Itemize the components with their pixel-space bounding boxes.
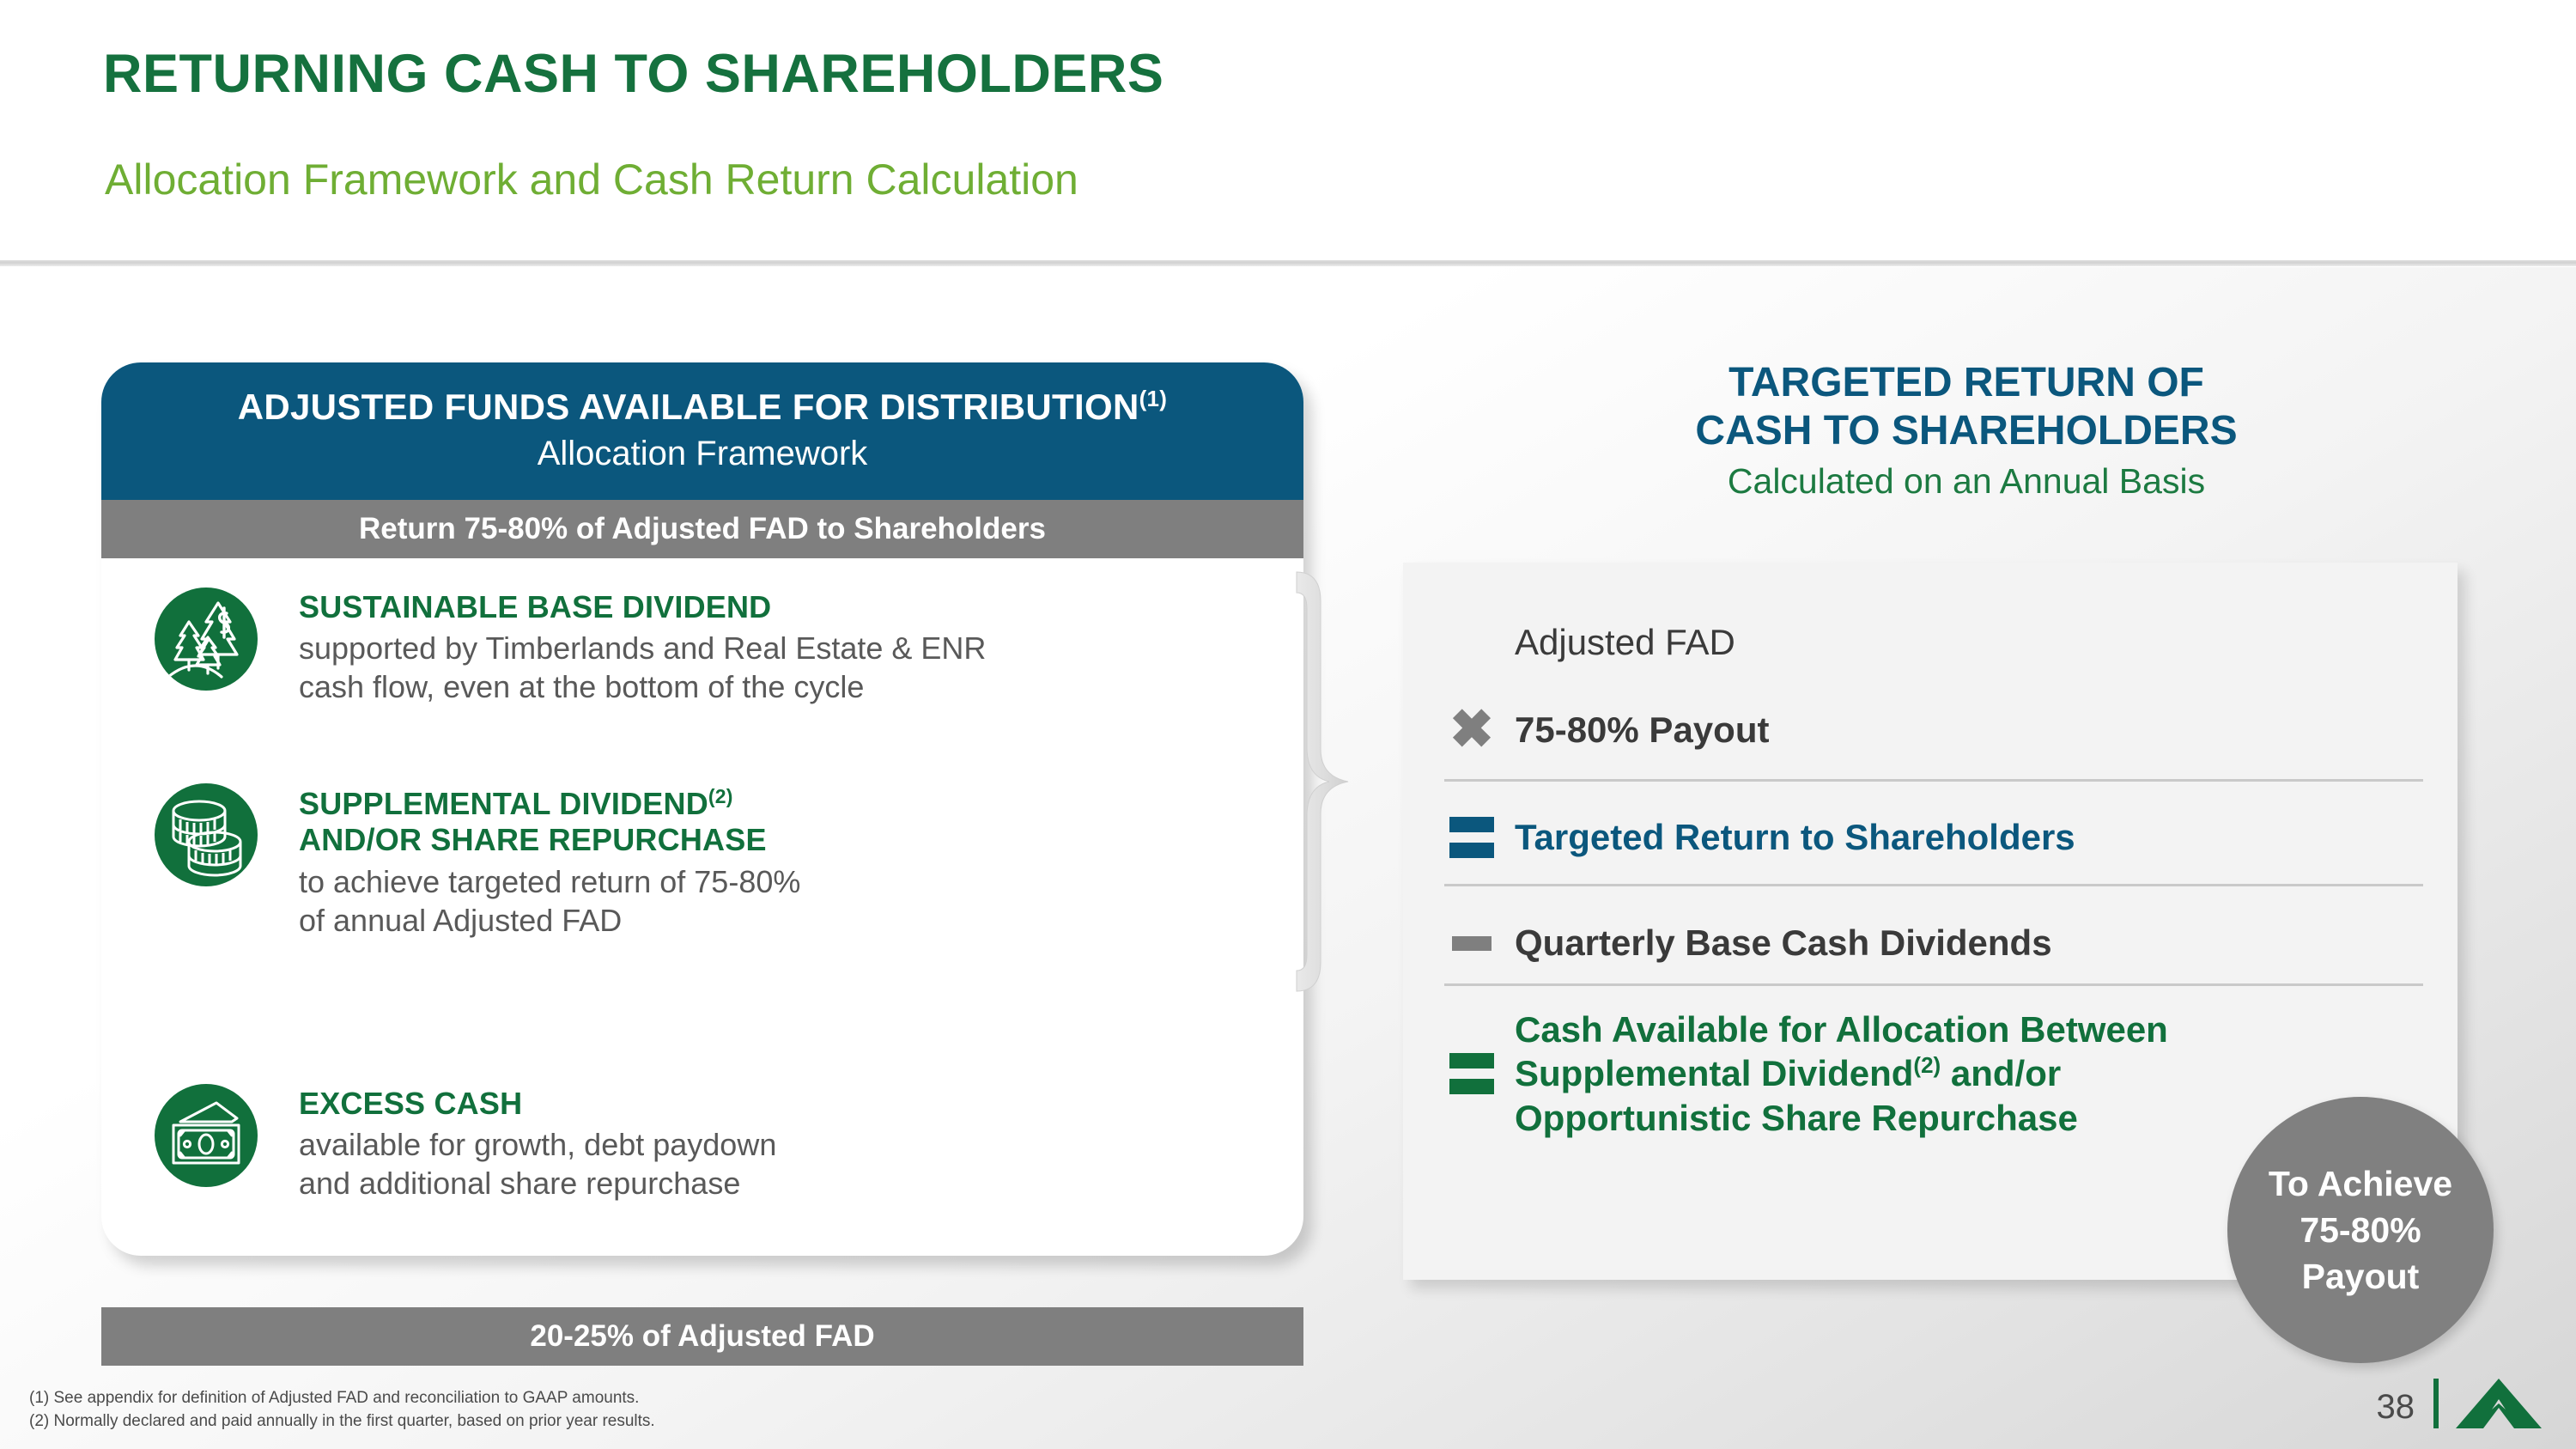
- page-number: 38: [2377, 1388, 2415, 1427]
- calc-row-5-line-3: Opportunistic Share Repurchase: [1515, 1098, 2078, 1138]
- item-2-text: SUPPLEMENTAL DIVIDEND(2) AND/OR SHARE RE…: [299, 783, 800, 940]
- allocation-panel-title-text: ADJUSTED FUNDS AVAILABLE FOR DISTRIBUTIO…: [238, 387, 1139, 427]
- footnote-2: (2) Normally declared and paid annually …: [29, 1409, 655, 1434]
- list-item-supplemental-dividend: SUPPLEMENTAL DIVIDEND(2) AND/OR SHARE RE…: [155, 783, 800, 940]
- page-title: RETURNING CASH TO SHAREHOLDERS: [103, 43, 1163, 105]
- item-1-body-line-1: supported by Timberlands and Real Estate…: [299, 630, 986, 668]
- calc-row-5-label: Cash Available for Allocation Between Su…: [1515, 1008, 2168, 1140]
- calc-row-4-label: Quarterly Base Cash Dividends: [1515, 921, 2052, 965]
- calc-row-5-line-2b: and/or: [1941, 1053, 2061, 1093]
- page-subtitle: Allocation Framework and Cash Return Cal…: [105, 155, 1078, 204]
- equals-green-icon: [1403, 1053, 1515, 1094]
- header-divider: [0, 260, 2576, 266]
- calc-row-2-label: 75-80% Payout: [1515, 708, 1769, 752]
- calc-row-1-label: Adjusted FAD: [1515, 620, 1735, 664]
- allocation-framework-panel: ADJUSTED FUNDS AVAILABLE FOR DISTRIBUTIO…: [101, 362, 1303, 1256]
- brace-connector: [1295, 567, 1381, 996]
- footnote-marker-2b: (2): [1913, 1052, 1941, 1078]
- targeted-return-header: TARGETED RETURN OF CASH TO SHAREHOLDERS …: [1408, 359, 2524, 502]
- item-3-heading: EXCESS CASH: [299, 1086, 776, 1122]
- item-2-body-line-2: of annual Adjusted FAD: [299, 902, 800, 941]
- targeted-return-subtitle: Calculated on an Annual Basis: [1408, 461, 2524, 502]
- targeted-return-title-line-1: TARGETED RETURN OF: [1408, 359, 2524, 407]
- minus-icon: [1403, 936, 1515, 951]
- list-item-excess-cash: EXCESS CASH available for growth, debt p…: [155, 1084, 776, 1203]
- band-excess-cash-share: 20-25% of Adjusted FAD: [101, 1307, 1303, 1366]
- footer-divider: [2433, 1379, 2439, 1428]
- item-3-body-line-1: available for growth, debt paydown: [299, 1126, 776, 1165]
- footnote-marker-1: (1): [1139, 386, 1168, 411]
- list-item-sustainable-base-dividend: SUSTAINABLE BASE DIVIDEND supported by T…: [155, 588, 986, 707]
- calc-row-5-line-1: Cash Available for Allocation Between: [1515, 1009, 2168, 1050]
- footnotes: (1) See appendix for definition of Adjus…: [29, 1386, 655, 1434]
- equals-blue-icon: [1403, 817, 1515, 858]
- item-1-body-line-2: cash flow, even at the bottom of the cyc…: [299, 668, 986, 707]
- weyerhaeuser-logo: [2454, 1377, 2543, 1430]
- item-3-body-line-2: and additional share repurchase: [299, 1165, 776, 1203]
- pine-trees-dollar-icon: [155, 588, 258, 691]
- calc-row-quarterly-dividends: Quarterly Base Cash Dividends: [1403, 896, 2458, 990]
- allocation-panel-subtitle: Allocation Framework: [101, 435, 1303, 473]
- stacked-coins-icon: [155, 783, 258, 886]
- calc-row-payout: ✖ 75-80% Payout: [1403, 683, 2458, 777]
- targeted-return-title-line-2: CASH TO SHAREHOLDERS: [1408, 407, 2524, 455]
- footnote-1: (1) See appendix for definition of Adjus…: [29, 1386, 655, 1410]
- to-achieve-payout-badge: To Achieve 75-80% Payout: [2227, 1097, 2494, 1363]
- item-3-text: EXCESS CASH available for growth, debt p…: [299, 1084, 776, 1203]
- item-2-body-line-1: to achieve targeted return of 75-80%: [299, 863, 800, 902]
- badge-line-3: Payout: [2302, 1253, 2420, 1300]
- band-return-to-shareholders: Return 75-80% of Adjusted FAD to Shareho…: [101, 500, 1303, 558]
- calc-row-5-line-2a: Supplemental Dividend: [1515, 1053, 1913, 1093]
- calc-divider-2: [1444, 884, 2423, 886]
- badge-line-2: 75-80%: [2300, 1207, 2421, 1253]
- banknote-cash-icon: [155, 1084, 258, 1187]
- item-1-heading: SUSTAINABLE BASE DIVIDEND: [299, 589, 986, 625]
- item-2-heading-text: SUPPLEMENTAL DIVIDEND: [299, 786, 708, 821]
- multiply-icon: ✖: [1403, 703, 1515, 757]
- footnote-marker-2a: (2): [708, 785, 733, 807]
- slide: RETURNING CASH TO SHAREHOLDERS Allocatio…: [0, 0, 2576, 1449]
- calc-row-targeted-return: Targeted Return to Shareholders: [1403, 790, 2458, 885]
- calc-divider-3: [1444, 983, 2423, 986]
- slide-header: RETURNING CASH TO SHAREHOLDERS Allocatio…: [0, 0, 2576, 262]
- item-2-heading-line-1: SUPPLEMENTAL DIVIDEND(2): [299, 785, 800, 822]
- allocation-panel-header: ADJUSTED FUNDS AVAILABLE FOR DISTRIBUTIO…: [101, 362, 1303, 500]
- badge-line-1: To Achieve: [2269, 1160, 2452, 1207]
- calc-row-adjusted-fad: Adjusted FAD: [1403, 595, 2458, 690]
- allocation-panel-title: ADJUSTED FUNDS AVAILABLE FOR DISTRIBUTIO…: [101, 386, 1303, 428]
- item-1-text: SUSTAINABLE BASE DIVIDEND supported by T…: [299, 588, 986, 707]
- calc-row-3-label: Targeted Return to Shareholders: [1515, 815, 2075, 859]
- calc-divider-1: [1444, 779, 2423, 782]
- item-2-heading-line-2: AND/OR SHARE REPURCHASE: [299, 822, 800, 858]
